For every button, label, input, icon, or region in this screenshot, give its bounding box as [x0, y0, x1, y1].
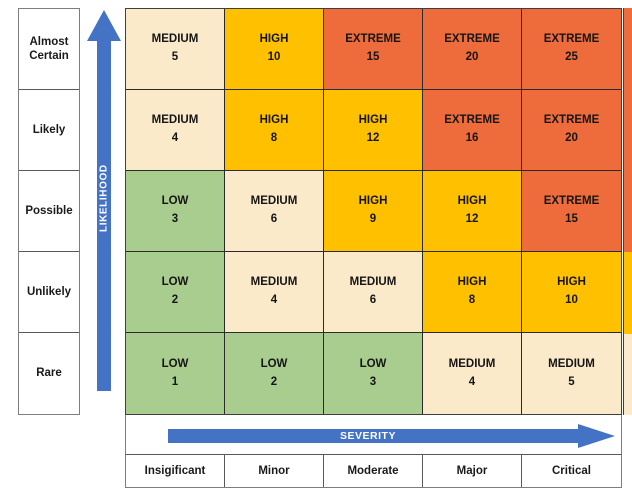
cell-risk-score: 5: [172, 49, 178, 67]
cell-risk-level: EXTREME: [544, 193, 600, 211]
matrix-cell: HIGH8: [225, 90, 324, 171]
cell-risk-score: 25: [565, 49, 578, 67]
cell-risk-score: 3: [370, 374, 376, 392]
matrix-cell: MEDIUM5: [126, 9, 225, 90]
cell-risk-score: 1: [172, 374, 178, 392]
matrix-cell: MEDIUM4: [423, 333, 522, 414]
matrix-cell: MEDIUM4: [225, 252, 324, 333]
cell-risk-score: 8: [271, 130, 277, 148]
cell-risk-level: HIGH: [458, 193, 487, 211]
matrix-cell: LOW2: [225, 333, 324, 414]
matrix-cell: HIGH10: [522, 252, 621, 333]
cell-risk-level: HIGH: [359, 193, 388, 211]
cell-risk-score: 20: [466, 49, 479, 67]
matrix-cell: LOW1: [126, 333, 225, 414]
matrix-cell: LOW3: [126, 171, 225, 252]
cell-risk-level: MEDIUM: [152, 31, 199, 49]
likelihood-axis-labels: Almost CertainLikelyPossibleUnlikelyRare: [18, 8, 80, 415]
cell-risk-level: LOW: [162, 356, 189, 374]
severity-axis-arrow: SEVERITY: [168, 423, 616, 449]
edge-sliver-segment-1: [624, 8, 632, 89]
likelihood-axis-arrow: LIKELIHOOD: [85, 8, 123, 415]
cell-risk-level: HIGH: [458, 274, 487, 292]
matrix-cell: HIGH10: [225, 9, 324, 90]
matrix-cell: EXTREME20: [522, 90, 621, 171]
matrix-cell: MEDIUM6: [225, 171, 324, 252]
cell-risk-level: EXTREME: [444, 112, 500, 130]
cell-risk-score: 10: [565, 292, 578, 310]
cell-risk-score: 6: [370, 292, 376, 310]
cell-risk-score: 16: [466, 130, 479, 148]
cell-risk-level: EXTREME: [544, 112, 600, 130]
cell-risk-level: HIGH: [260, 31, 289, 49]
matrix-cell: MEDIUM5: [522, 333, 621, 414]
cell-risk-score: 20: [565, 130, 578, 148]
matrix-cell: HIGH12: [423, 171, 522, 252]
matrix-cell: MEDIUM6: [324, 252, 423, 333]
likelihood-level-2: Likely: [19, 90, 79, 171]
cell-risk-level: HIGH: [260, 112, 289, 130]
cell-risk-score: 4: [469, 374, 475, 392]
matrix-cell: EXTREME16: [423, 90, 522, 171]
cell-risk-score: 15: [367, 49, 380, 67]
matrix-cell: HIGH12: [324, 90, 423, 171]
matrix-cell: HIGH8: [423, 252, 522, 333]
matrix-cell: HIGH9: [324, 171, 423, 252]
cell-risk-score: 12: [466, 211, 479, 229]
likelihood-level-3: Possible: [19, 171, 79, 252]
cell-risk-score: 12: [367, 130, 380, 148]
cell-risk-level: MEDIUM: [449, 356, 496, 374]
cell-risk-level: EXTREME: [345, 31, 401, 49]
cell-risk-level: LOW: [162, 274, 189, 292]
cell-risk-score: 3: [172, 211, 178, 229]
severity-axis-labels: InsigificantMinorModerateMajorCritical: [125, 455, 622, 488]
risk-matrix-grid: MEDIUM5HIGH10EXTREME15EXTREME20EXTREME25…: [125, 8, 622, 415]
likelihood-level-1: Almost Certain: [19, 9, 79, 90]
cell-risk-level: MEDIUM: [350, 274, 397, 292]
severity-level-5: Critical: [522, 455, 621, 487]
edge-sliver-segment-3: [624, 171, 632, 252]
cell-risk-score: 5: [568, 374, 574, 392]
edge-sliver-segment-4: [624, 252, 632, 333]
cell-risk-level: LOW: [360, 356, 387, 374]
severity-level-2: Minor: [225, 455, 324, 487]
likelihood-level-5: Rare: [19, 333, 79, 414]
cell-risk-level: MEDIUM: [548, 356, 595, 374]
cell-risk-level: EXTREME: [444, 31, 500, 49]
cell-risk-score: 6: [271, 211, 277, 229]
matrix-cell: LOW2: [126, 252, 225, 333]
matrix-cell: EXTREME15: [522, 171, 621, 252]
severity-axis-arrow-band: SEVERITY: [125, 415, 622, 455]
severity-level-3: Moderate: [324, 455, 423, 487]
cell-risk-score: 10: [268, 49, 281, 67]
cell-risk-score: 4: [172, 130, 178, 148]
cell-risk-level: MEDIUM: [251, 274, 298, 292]
cell-risk-score: 8: [469, 292, 475, 310]
cell-risk-score: 15: [565, 211, 578, 229]
edge-sliver-segment-2: [624, 89, 632, 170]
matrix-cell: EXTREME25: [522, 9, 621, 90]
risk-matrix-figure: Almost CertainLikelyPossibleUnlikelyRare…: [0, 0, 632, 496]
matrix-cell: EXTREME15: [324, 9, 423, 90]
cell-risk-level: HIGH: [557, 274, 586, 292]
likelihood-level-4: Unlikely: [19, 252, 79, 333]
cell-risk-level: LOW: [162, 193, 189, 211]
cell-risk-level: EXTREME: [544, 31, 600, 49]
right-arrow-icon: [168, 424, 615, 448]
matrix-cell: EXTREME20: [423, 9, 522, 90]
cell-risk-score: 2: [271, 374, 277, 392]
up-arrow-icon: [87, 10, 121, 391]
cell-risk-score: 2: [172, 292, 178, 310]
edge-sliver-segment-5: [624, 334, 632, 415]
cell-risk-level: HIGH: [359, 112, 388, 130]
cell-risk-level: LOW: [261, 356, 288, 374]
cell-risk-level: MEDIUM: [251, 193, 298, 211]
severity-level-1: Insigificant: [126, 455, 225, 487]
cell-risk-score: 4: [271, 292, 277, 310]
cell-risk-level: MEDIUM: [152, 112, 199, 130]
severity-level-4: Major: [423, 455, 522, 487]
matrix-cell: MEDIUM4: [126, 90, 225, 171]
matrix-cell: LOW3: [324, 333, 423, 414]
matrix-right-edge-sliver: [623, 8, 632, 415]
cell-risk-score: 9: [370, 211, 376, 229]
